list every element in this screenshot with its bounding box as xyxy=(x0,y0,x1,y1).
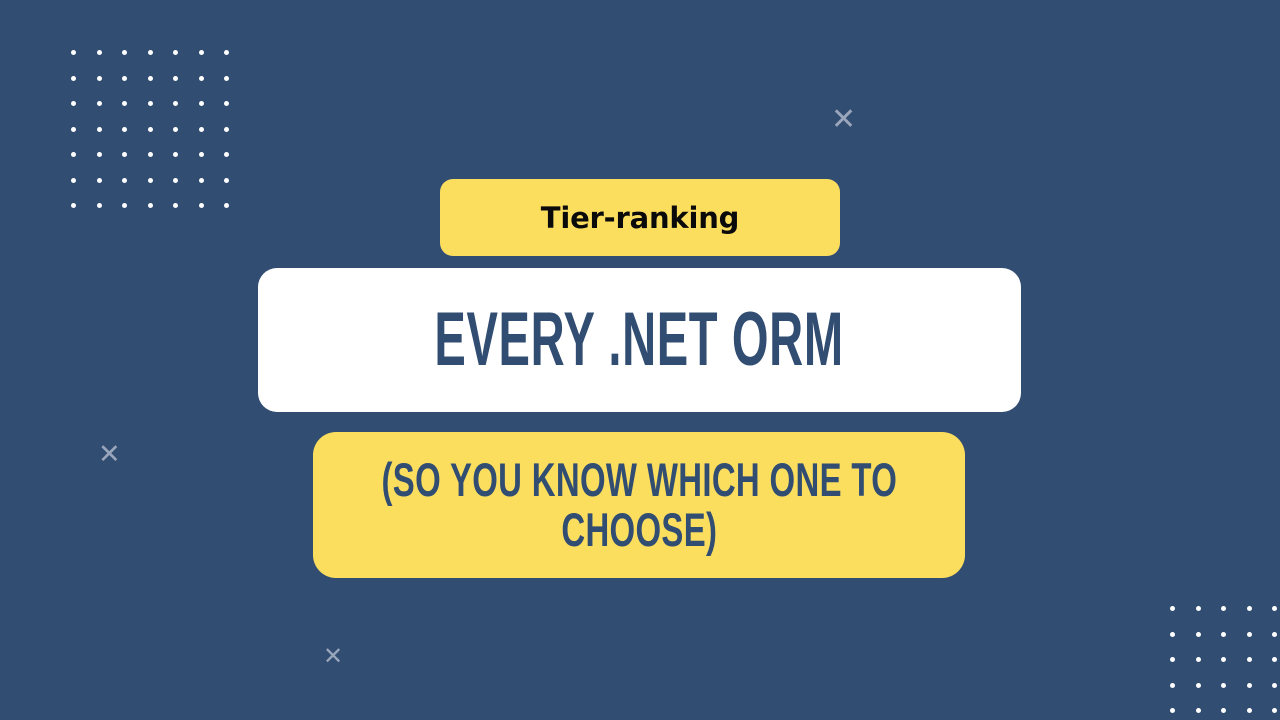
eyebrow-label: Tier-ranking xyxy=(541,201,739,235)
eyebrow-pill: Tier-ranking xyxy=(440,179,840,256)
slide-canvas: ✕ ✕ ✕ Tier-ranking EVERY .NET ORM (SO YO… xyxy=(0,0,1280,720)
subtitle-line-1: (SO YOU KNOW WHICH ONE TO xyxy=(381,455,897,505)
title-card: EVERY .NET ORM xyxy=(258,268,1021,412)
page-title: EVERY .NET ORM xyxy=(435,302,844,378)
subtitle-line-2: CHOOSE) xyxy=(381,505,897,555)
subtitle: (SO YOU KNOW WHICH ONE TO CHOOSE) xyxy=(381,455,897,555)
content-stack: Tier-ranking EVERY .NET ORM (SO YOU KNOW… xyxy=(0,0,1280,720)
subtitle-card: (SO YOU KNOW WHICH ONE TO CHOOSE) xyxy=(313,432,965,578)
